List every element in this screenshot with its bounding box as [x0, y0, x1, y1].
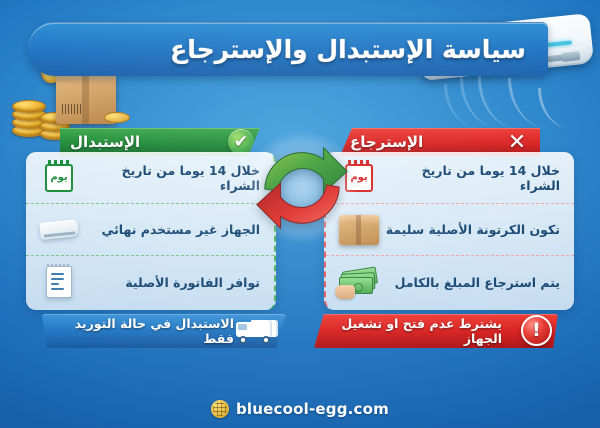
list-item-label: يتم استرجاع المبلغ بالكامل	[382, 275, 564, 290]
box-tape	[82, 76, 89, 124]
coin-icon	[12, 100, 46, 113]
list-item: تكون الكرتونة الأصلية سليمة	[326, 204, 574, 256]
ac-display-panel	[562, 51, 581, 62]
exclamation-circle-icon: !	[521, 315, 552, 346]
list-item-label: خلال 14 يوما من تاريخ الشراء	[82, 163, 264, 193]
website-label[interactable]: bluecool-egg.com	[236, 400, 389, 418]
exchange-note-label: الاستبدال في حالة التوريد فقط	[42, 316, 234, 346]
exchange-conditions-panel: خلال 14 يوما من تاريخ الشراء يوم الجهاز …	[26, 152, 276, 310]
list-item: توافر الفاتورة الأصلية	[26, 256, 274, 308]
delivery-truck-icon	[236, 320, 278, 344]
invoice-icon	[36, 262, 82, 302]
refund-note-bar: يشترط عدم فتح او تشغيل الجهاز !	[314, 314, 558, 348]
list-item-label: تكون الكرتونة الأصلية سليمة	[382, 222, 564, 237]
calendar-badge: يوم	[45, 164, 73, 192]
list-item: خلال 14 يوما من تاريخ الشراء يوم	[326, 152, 574, 204]
barcode-icon	[62, 104, 82, 114]
title-banner: سياسة الإستبدال والإسترجاع	[28, 22, 548, 76]
globe-icon	[211, 400, 229, 418]
refund-conditions-panel: خلال 14 يوما من تاريخ الشراء يوم تكون ال…	[324, 152, 574, 310]
hand-icon	[335, 285, 355, 299]
list-item-label: خلال 14 يوما من تاريخ الشراء	[382, 163, 564, 193]
footer: bluecool-egg.com	[0, 400, 600, 418]
refund-note-label: يشترط عدم فتح او تشغيل الجهاز	[314, 316, 502, 346]
cash-money-icon	[336, 262, 382, 302]
list-item: يتم استرجاع المبلغ بالكامل	[326, 256, 574, 308]
calendar-icon: يوم	[36, 158, 82, 198]
returns-policy-poster: سياسة الإستبدال والإسترجاع الإستبدال ✔ ا…	[0, 0, 600, 428]
list-item-label: الجهاز غير مستخدم نهائي	[82, 222, 264, 237]
air-conditioner-icon	[36, 210, 82, 250]
calendar-badge-label: يوم	[50, 173, 67, 183]
list-item-label: توافر الفاتورة الأصلية	[82, 275, 264, 290]
exchange-note-bar: الاستبدال في حالة التوريد فقط	[42, 314, 286, 348]
circular-exchange-arrows	[253, 138, 351, 236]
list-item: الجهاز غير مستخدم نهائي	[26, 204, 274, 256]
refund-heading-label: الإسترجاع	[350, 133, 423, 151]
coin-icon	[104, 112, 130, 123]
exchange-heading-label: الإستبدال	[70, 133, 140, 151]
page-title: سياسة الإستبدال والإسترجاع	[28, 23, 548, 76]
list-item: خلال 14 يوما من تاريخ الشراء يوم	[26, 152, 274, 204]
